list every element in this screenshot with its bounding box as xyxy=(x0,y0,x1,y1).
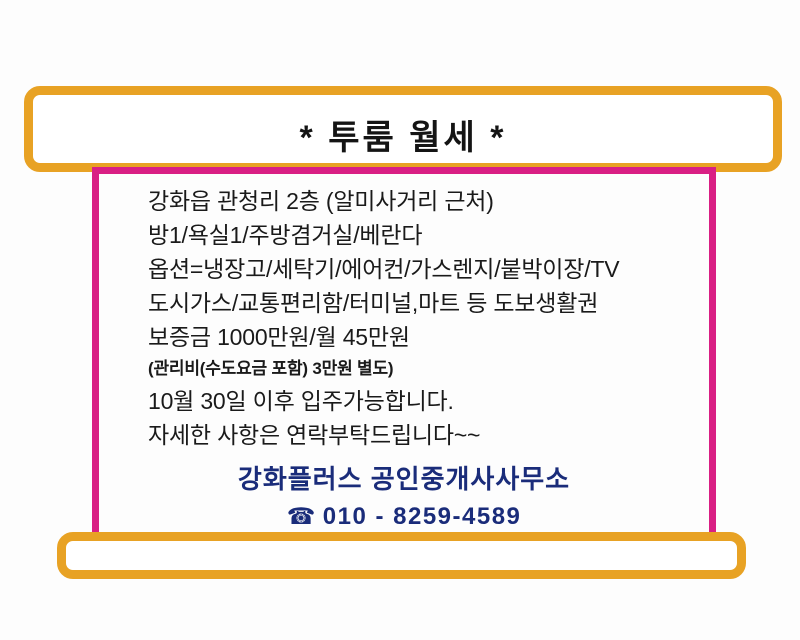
listing-line: 자세한 사항은 연락부탁드립니다~~ xyxy=(148,418,708,452)
listing-line: 도시가스/교통편리함/터미널,마트 등 도보생활권 xyxy=(148,286,708,320)
telephone-icon: ☎ xyxy=(287,503,317,529)
listing-line-note: (관리비(수도요금 포함) 3만원 별도) xyxy=(148,354,708,384)
phone-row[interactable]: ☎010 - 8259-4589 xyxy=(92,500,716,533)
content-frame-top-border xyxy=(92,167,716,174)
page-title: * 투룸 월세 * xyxy=(24,110,782,159)
rental-flyer: * 투룸 월세 * 강화읍 관청리 2층 (알미사거리 근처) 방1/욕실1/주… xyxy=(0,0,800,640)
phone-number: 010 - 8259-4589 xyxy=(323,503,522,530)
listing-line: 10월 30일 이후 입주가능합니다. xyxy=(148,384,708,418)
listing-line: 강화읍 관청리 2층 (알미사거리 근처) xyxy=(148,184,708,218)
listing-details: 강화읍 관청리 2층 (알미사거리 근처) 방1/욕실1/주방겸거실/베란다 옵… xyxy=(148,184,708,452)
listing-line: 보증금 1000만원/월 45만원 xyxy=(148,320,708,354)
listing-line: 옵션=냉장고/세탁기/에어컨/가스렌지/붙박이장/TV xyxy=(148,252,708,286)
listing-line: 방1/욕실1/주방겸거실/베란다 xyxy=(148,218,708,252)
agency-name: 강화플러스 공인중개사사무소 xyxy=(92,462,716,496)
contact-block: 강화플러스 공인중개사사무소 ☎010 - 8259-4589 xyxy=(92,462,716,533)
footer-frame xyxy=(57,532,746,579)
